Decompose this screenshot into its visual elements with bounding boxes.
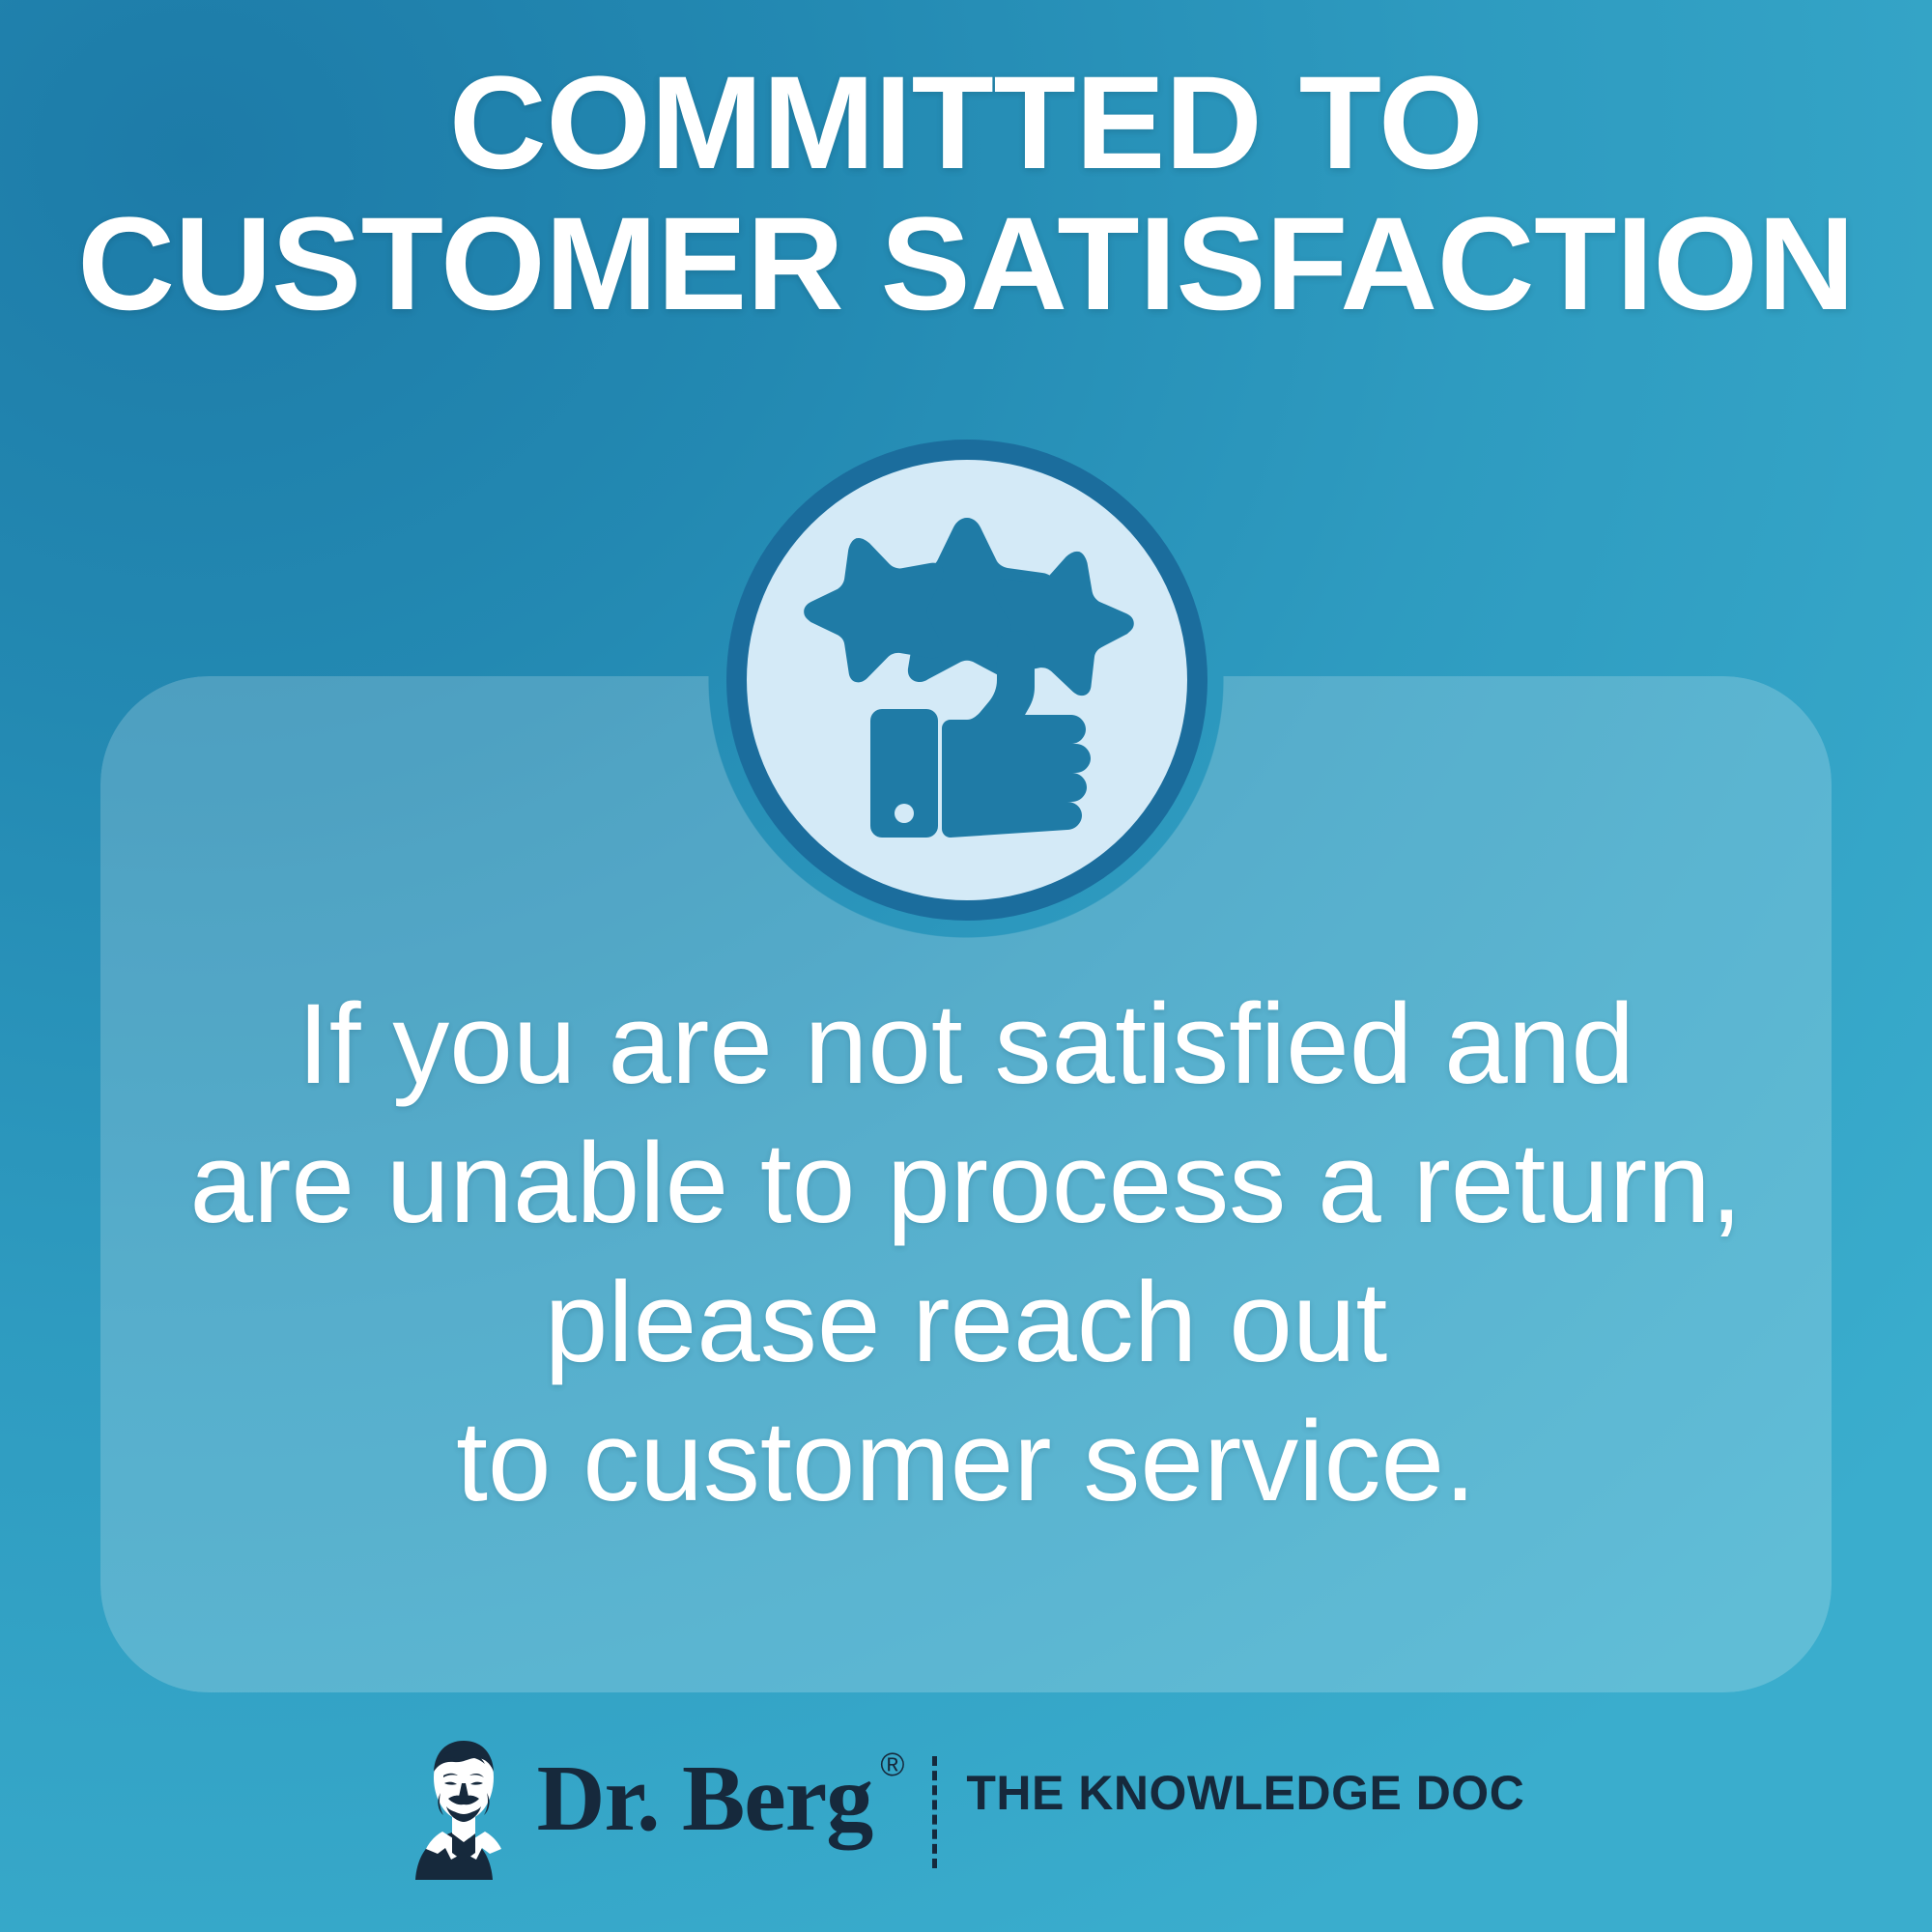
card-body-text: If you are not satisfied and are unable … [100,976,1832,1532]
body-line-3: please reach out [100,1254,1832,1393]
title-line-2: CUSTOMER SATISFACTION [0,197,1932,332]
body-line-1: If you are not satisfied and [100,976,1832,1115]
dr-berg-portrait-icon [408,1733,520,1880]
body-line-4: to customer service. [100,1393,1832,1532]
brand-wordmark: Dr. Berg® [537,1751,896,1846]
registered-trademark-icon: ® [880,1747,903,1783]
body-line-2: are unable to process a return, [100,1115,1832,1254]
brand-wordmark-text: Dr. Berg [537,1747,873,1851]
page-title: COMMITTED TO CUSTOMER SATISFACTION [0,56,1932,331]
brand-footer: Dr. Berg® THE KNOWLEDGE DOC [0,1733,1932,1880]
three-stars-thumbs-up-icon [747,460,1187,900]
brand-tagline: THE KNOWLEDGE DOC [966,1765,1524,1821]
logo-divider [932,1756,937,1868]
title-line-1: COMMITTED TO [0,56,1932,197]
satisfaction-badge [747,460,1187,900]
poster-canvas: COMMITTED TO CUSTOMER SATISFACTION [0,0,1932,1932]
